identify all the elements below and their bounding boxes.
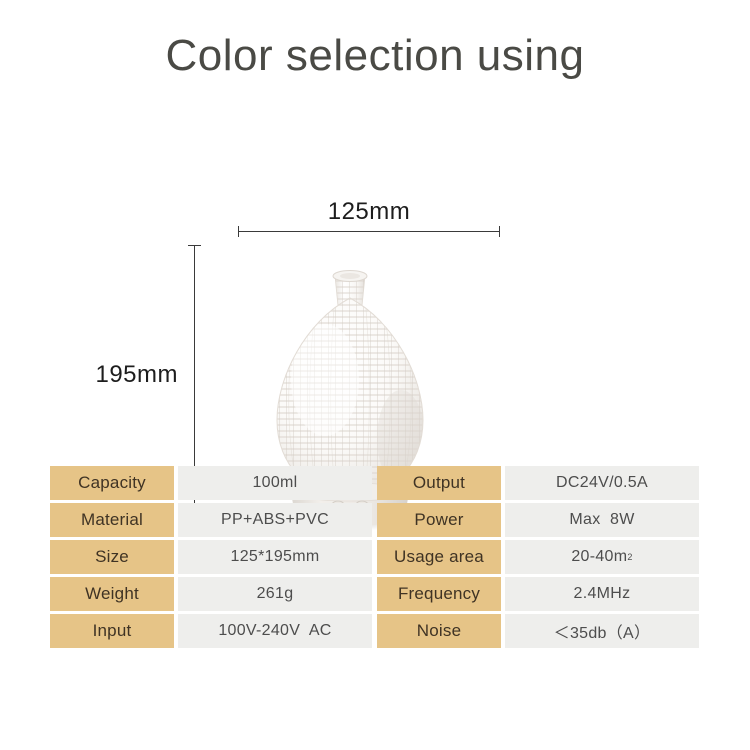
table-row: Input 100V-240V AC bbox=[50, 614, 372, 648]
table-row: Power Max 8W bbox=[377, 503, 699, 537]
spec-label: Noise bbox=[377, 614, 501, 648]
width-dimension-label: 125mm bbox=[238, 198, 500, 226]
table-row: Usage area 20-40m2 bbox=[377, 540, 699, 574]
product-hero: 125mm 195mm bbox=[0, 95, 750, 460]
spec-label: Frequency bbox=[377, 577, 501, 611]
spec-value: PP+ABS+PVC bbox=[178, 503, 372, 537]
page-title: Color selection using bbox=[0, 28, 750, 84]
table-row: Noise ＜35db（A） bbox=[377, 614, 699, 648]
spec-label: Weight bbox=[50, 577, 174, 611]
spec-value: 2.4MHz bbox=[505, 577, 699, 611]
table-row: Material PP+ABS+PVC bbox=[50, 503, 372, 537]
spec-column-left: Capacity 100ml Material PP+ABS+PVC Size … bbox=[50, 466, 372, 648]
height-dimension-label: 195mm bbox=[78, 361, 178, 389]
spec-label: Size bbox=[50, 540, 174, 574]
product-spec-page: { "title": "Color selection using", "dim… bbox=[0, 0, 750, 750]
spec-label: Input bbox=[50, 614, 174, 648]
spec-value: DC24V/0.5A bbox=[505, 466, 699, 500]
table-row: Size 125*195mm bbox=[50, 540, 372, 574]
spec-value: 100ml bbox=[178, 466, 372, 500]
spec-value-text: 20-40m bbox=[571, 548, 627, 566]
spec-value: 100V-240V AC bbox=[178, 614, 372, 648]
spec-label: Usage area bbox=[377, 540, 501, 574]
spec-label: Output bbox=[377, 466, 501, 500]
specification-table: Capacity 100ml Material PP+ABS+PVC Size … bbox=[50, 466, 700, 648]
spec-value-superscript: 2 bbox=[627, 552, 632, 562]
spec-value: ＜35db（A） bbox=[505, 614, 699, 648]
spec-value: 125*195mm bbox=[178, 540, 372, 574]
table-row: Output DC24V/0.5A bbox=[377, 466, 699, 500]
table-row: Frequency 2.4MHz bbox=[377, 577, 699, 611]
spec-label: Power bbox=[377, 503, 501, 537]
spec-value: 20-40m2 bbox=[505, 540, 699, 574]
spec-value: 261g bbox=[178, 577, 372, 611]
spec-label: Capacity bbox=[50, 466, 174, 500]
spec-column-right: Output DC24V/0.5A Power Max 8W Usage are… bbox=[377, 466, 699, 648]
spec-label: Material bbox=[50, 503, 174, 537]
spec-value: Max 8W bbox=[505, 503, 699, 537]
width-dimension-line bbox=[238, 231, 500, 232]
table-row: Capacity 100ml bbox=[50, 466, 372, 500]
table-row: Weight 261g bbox=[50, 577, 372, 611]
